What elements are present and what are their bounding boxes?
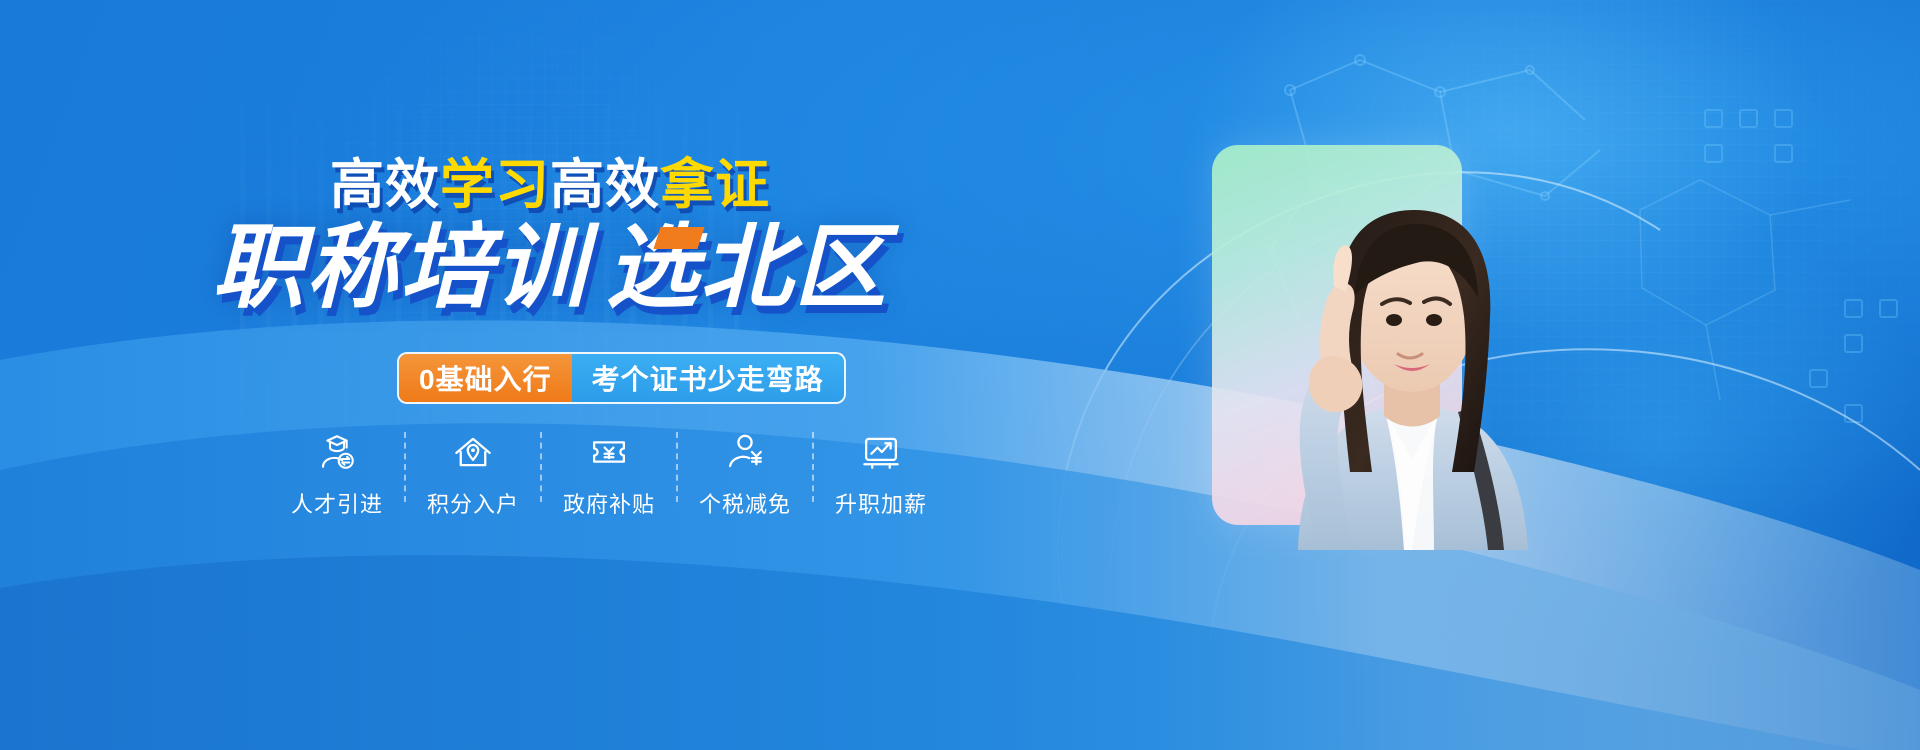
tagline-badge: 0基础入行 考个证书少走弯路 xyxy=(397,352,846,404)
feature-label: 积分入户 xyxy=(427,487,519,519)
headline-main: 职称培训选北区 xyxy=(0,222,1100,314)
headline-main-part1: 职称培训 xyxy=(212,217,588,319)
feature-item-points-residency[interactable]: 积分入户 xyxy=(406,430,540,519)
orange-accent-mark xyxy=(653,227,704,249)
headline-top-segment-2: 学习 xyxy=(440,155,550,215)
feature-label: 个税减免 xyxy=(699,487,791,519)
feature-list: 人才引进 积分入户 xyxy=(270,430,948,519)
headline-block: 高效学习高效拿证 职称培训选北区 0基础入行 考个证书少走弯路 xyxy=(0,0,1100,750)
headline-top-segment-1: 高效 xyxy=(330,155,440,215)
feature-label: 政府补贴 xyxy=(563,487,655,519)
person-yuan-icon xyxy=(724,430,766,474)
feature-label: 升职加薪 xyxy=(835,487,927,519)
home-location-icon xyxy=(452,430,494,474)
promo-banner: 高效学习高效拿证 职称培训选北区 0基础入行 考个证书少走弯路 xyxy=(0,0,1920,750)
badge-right-label: 考个证书少走弯路 xyxy=(572,354,844,402)
feature-item-tax-reduction[interactable]: 个税减免 xyxy=(678,430,812,519)
feature-item-promotion-raise[interactable]: 升职加薪 xyxy=(814,430,948,519)
growth-chart-icon xyxy=(860,430,902,474)
model-photo-group xyxy=(1172,120,1602,540)
badge-left-label: 0基础入行 xyxy=(399,354,572,402)
feature-item-talent-introduction[interactable]: 人才引进 xyxy=(270,430,404,519)
headline-top-segment-3: 高效 xyxy=(550,155,660,215)
headline-top-segment-4: 拿证 xyxy=(660,155,770,215)
voucher-yuan-icon xyxy=(588,430,630,474)
headline-top: 高效学习高效拿证 xyxy=(0,158,1100,212)
headline-main-part2: 选北区 xyxy=(606,217,888,319)
graduate-person-icon xyxy=(316,430,358,474)
feature-item-government-subsidy[interactable]: 政府补贴 xyxy=(542,430,676,519)
pointing-woman-photo xyxy=(1172,120,1602,550)
feature-label: 人才引进 xyxy=(291,487,383,519)
